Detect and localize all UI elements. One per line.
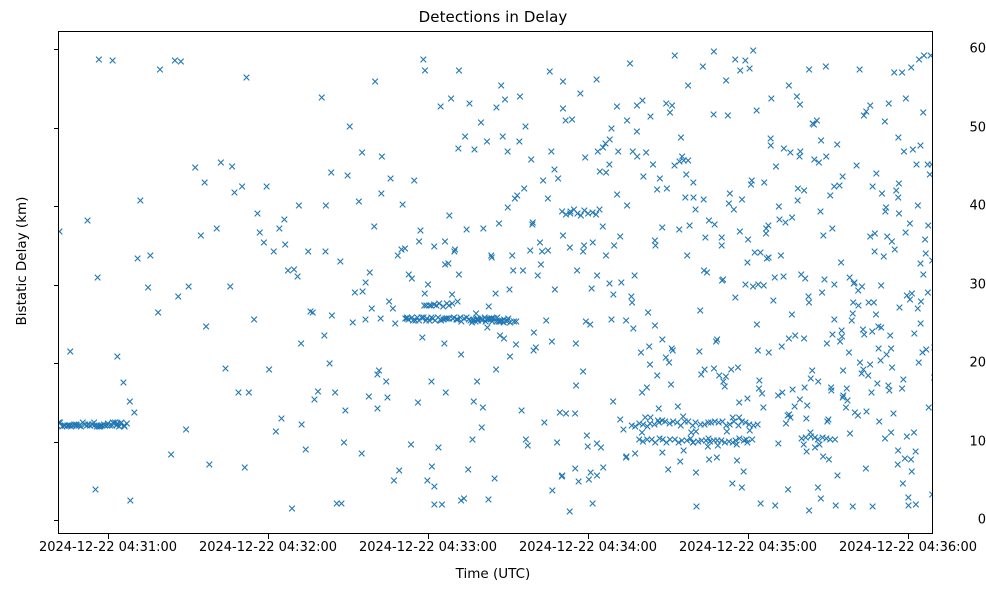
x-tick-mark (428, 534, 429, 539)
scatter-point: ✕ (599, 462, 608, 473)
scatter-point: ✕ (787, 212, 796, 223)
scatter-point: ✕ (926, 50, 933, 61)
scatter-point: ✕ (748, 435, 757, 446)
scatter-point: ✕ (864, 371, 873, 382)
scatter-point: ✕ (550, 285, 559, 296)
scatter-point: ✕ (505, 351, 514, 362)
scatter-point: ✕ (538, 175, 547, 186)
scatter-point: ✕ (321, 200, 330, 211)
scatter-point: ✕ (753, 346, 762, 357)
scatter-point: ✕ (820, 274, 829, 285)
scatter-point: ✕ (545, 67, 554, 78)
scatter-point: ✕ (441, 387, 450, 398)
scatter-point: ✕ (632, 126, 641, 137)
scatter-point: ✕ (568, 115, 577, 126)
scatter-point: ✕ (919, 270, 928, 281)
scatter-point: ✕ (877, 323, 886, 334)
scatter-point: ✕ (801, 274, 810, 285)
scatter-point: ✕ (547, 336, 556, 347)
scatter-point: ✕ (684, 81, 693, 92)
scatter-point: ✕ (398, 200, 407, 211)
scatter-point: ✕ (666, 379, 675, 390)
scatter-point: ✕ (196, 230, 205, 241)
scatter-point: ✕ (348, 318, 357, 329)
scatter-point: ✕ (605, 134, 614, 145)
scatter-point: ✕ (478, 403, 487, 414)
scatter-point: ✕ (881, 207, 890, 218)
scatter-point: ✕ (732, 455, 741, 466)
scatter-point: ✕ (743, 394, 752, 405)
scatter-point: ✕ (93, 273, 102, 284)
scatter-point: ✕ (778, 388, 787, 399)
scatter-point: ✕ (465, 99, 474, 110)
scatter-point: ✕ (771, 162, 780, 173)
scatter-point: ✕ (317, 93, 326, 104)
scatter-point: ✕ (816, 493, 825, 504)
scatter-point: ✕ (791, 331, 800, 342)
scatter-point: ✕ (277, 413, 286, 424)
scatter-point: ✕ (607, 124, 616, 135)
scatter-point: ✕ (250, 315, 259, 326)
scatter-point: ✕ (760, 177, 769, 188)
scatter-point: ✕ (805, 65, 814, 76)
scatter-point: ✕ (540, 418, 549, 429)
scatter-point: ✕ (240, 462, 249, 473)
scatter-point: ✕ (383, 393, 392, 404)
x-tick-label: 2024-12-22 04:36:00 (839, 540, 977, 555)
scatter-point: ✕ (497, 80, 506, 91)
matplotlib-figure: Detections in Delay ✕✕✕✕✕✕✕✕✕✕✕✕✕✕✕✕✕✕✕✕… (0, 0, 986, 590)
scatter-point: ✕ (865, 359, 874, 370)
scatter-point: ✕ (744, 234, 753, 245)
scatter-point: ✕ (617, 277, 626, 288)
scatter-point: ✕ (413, 397, 422, 408)
scatter-point: ✕ (271, 426, 280, 437)
scatter-point: ✕ (581, 153, 590, 164)
scatter-point: ✕ (623, 200, 632, 211)
scatter-point: ✕ (913, 201, 922, 212)
scatter-point: ✕ (774, 439, 783, 450)
x-tick-mark (908, 534, 909, 539)
scatter-point: ✕ (609, 290, 618, 301)
scatter-point: ✕ (712, 334, 721, 345)
scatter-point: ✕ (683, 251, 692, 262)
scatter-point: ✕ (410, 175, 419, 186)
scatter-point: ✕ (454, 143, 463, 154)
scatter-point: ✕ (473, 377, 482, 388)
y-tick-label: 30 (942, 277, 986, 292)
scatter-point: ✕ (586, 320, 595, 331)
scatter-point: ✕ (717, 233, 726, 244)
scatter-point: ✕ (911, 500, 920, 511)
scatter-point: ✕ (558, 77, 567, 88)
y-tick-mark (54, 520, 59, 521)
scatter-point: ✕ (327, 167, 336, 178)
scatter-point: ✕ (894, 179, 903, 190)
scatter-point: ✕ (143, 282, 152, 293)
x-tick-label: 2024-12-22 04:34:00 (519, 540, 657, 555)
scatter-point: ✕ (294, 201, 303, 212)
scatter-point: ✕ (205, 460, 214, 471)
scatter-point: ✕ (415, 236, 424, 247)
scatter-point: ✕ (58, 226, 64, 237)
scatter-point: ✕ (370, 76, 379, 87)
scatter-point: ✕ (907, 288, 916, 299)
scatter-point: ✕ (155, 65, 164, 76)
scatter-point: ✕ (638, 95, 647, 106)
scatter-point: ✕ (547, 146, 556, 157)
scatter-point: ✕ (779, 271, 788, 282)
scatter-point: ✕ (301, 445, 310, 456)
x-tick-label: 2024-12-22 04:31:00 (39, 540, 177, 555)
scatter-point: ✕ (293, 272, 302, 283)
scatter-point: ✕ (373, 403, 382, 414)
scatter-point: ✕ (743, 258, 752, 269)
scatter-point: ✕ (523, 441, 532, 452)
scatter-point: ✕ (407, 274, 416, 285)
scatter-point: ✕ (668, 346, 677, 357)
scatter-point: ✕ (633, 151, 642, 162)
scatter-point: ✕ (508, 251, 517, 262)
scatter-point: ✕ (932, 325, 933, 336)
scatter-point: ✕ (357, 448, 366, 459)
scatter-point: ✕ (889, 409, 898, 420)
scatter-point: ✕ (376, 314, 385, 325)
scatter-point: ✕ (427, 461, 436, 472)
scatter-point: ✕ (641, 148, 650, 159)
scatter-point: ✕ (629, 324, 638, 335)
scatter-point: ✕ (119, 378, 128, 389)
scatter-point: ✕ (527, 155, 536, 166)
scatter-point: ✕ (499, 333, 508, 344)
scatter-point: ✕ (886, 331, 895, 342)
scatter-point: ✕ (573, 266, 582, 277)
scatter-point: ✕ (916, 319, 925, 330)
scatter-point: ✕ (304, 246, 313, 257)
scatter-point: ✕ (921, 235, 930, 246)
scatter-point: ✕ (420, 65, 429, 76)
scatter-point: ✕ (576, 88, 585, 99)
scatter-point: ✕ (531, 342, 540, 353)
scatter-point: ✕ (607, 314, 616, 325)
scatter-point: ✕ (553, 438, 562, 449)
scatter-point: ✕ (122, 419, 131, 430)
scatter-point: ✕ (612, 102, 621, 113)
scatter-point: ✕ (515, 136, 524, 147)
scatter-point: ✕ (108, 56, 117, 67)
scatter-point: ✕ (683, 156, 692, 167)
scatter-point: ✕ (757, 389, 766, 400)
scatter-point: ✕ (592, 74, 601, 85)
scatter-point: ✕ (113, 352, 122, 363)
scatter-point: ✕ (857, 281, 866, 292)
scatter-point: ✕ (725, 188, 734, 199)
scatter-point: ✕ (767, 93, 776, 104)
scatter-point: ✕ (554, 174, 563, 185)
scatter-point: ✕ (756, 498, 765, 509)
scatter-point: ✕ (898, 383, 907, 394)
scatter-point: ✕ (753, 419, 762, 430)
scatter-point: ✕ (644, 307, 653, 318)
scatter-point: ✕ (776, 251, 785, 262)
scatter-points-layer: ✕✕✕✕✕✕✕✕✕✕✕✕✕✕✕✕✕✕✕✕✕✕✕✕✕✕✕✕✕✕✕✕✕✕✕✕✕✕✕✕… (59, 32, 933, 534)
x-axis-label: Time (UTC) (0, 566, 986, 582)
scatter-point: ✕ (894, 208, 903, 219)
scatter-point: ✕ (430, 481, 439, 492)
scatter-point: ✕ (923, 287, 932, 298)
scatter-point: ✕ (844, 348, 853, 359)
scatter-point: ✕ (561, 408, 570, 419)
scatter-point: ✕ (146, 250, 155, 261)
scatter-point: ✕ (909, 427, 918, 438)
scatter-point: ✕ (764, 347, 773, 358)
scatter-point: ✕ (297, 419, 306, 430)
scatter-point: ✕ (238, 181, 247, 192)
scatter-point: ✕ (931, 181, 933, 192)
scatter-point: ✕ (885, 386, 894, 397)
scatter-point: ✕ (787, 310, 796, 321)
scatter-point: ✕ (503, 146, 512, 157)
x-tick-label: 2024-12-22 04:33:00 (359, 540, 497, 555)
scatter-point: ✕ (327, 311, 336, 322)
scatter-point: ✕ (454, 270, 463, 281)
scatter-point: ✕ (367, 304, 376, 315)
scatter-point: ✕ (614, 146, 623, 157)
scatter-point: ✕ (242, 73, 251, 84)
scatter-point: ✕ (907, 466, 916, 477)
scatter-point: ✕ (377, 151, 386, 162)
scatter-point: ✕ (343, 170, 352, 181)
scatter-point: ✕ (814, 377, 823, 388)
scatter-point: ✕ (609, 396, 618, 407)
scatter-point: ✕ (543, 245, 552, 256)
scatter-point: ✕ (905, 218, 914, 229)
scatter-point: ✕ (795, 99, 804, 110)
scatter-point: ✕ (901, 94, 910, 105)
scatter-point: ✕ (533, 271, 542, 282)
scatter-point: ✕ (484, 494, 493, 505)
scatter-point: ✕ (653, 370, 662, 381)
scatter-point: ✕ (622, 115, 631, 126)
scatter-point: ✕ (345, 122, 354, 133)
scatter-point: ✕ (639, 171, 648, 182)
y-tick-label: 0 (942, 513, 986, 528)
scatter-point: ✕ (598, 221, 607, 232)
scatter-point: ✕ (766, 134, 775, 145)
scatter-point: ✕ (871, 309, 880, 320)
scatter-point: ✕ (733, 363, 742, 374)
x-tick-label: 2024-12-22 04:35:00 (679, 540, 817, 555)
scatter-point: ✕ (648, 159, 657, 170)
scatter-point: ✕ (490, 474, 499, 485)
scatter-point: ✕ (764, 253, 773, 264)
scatter-point: ✕ (702, 267, 711, 278)
scatter-point: ✕ (786, 148, 795, 159)
scatter-point: ✕ (653, 185, 662, 196)
scatter-point: ✕ (339, 437, 348, 448)
y-tick-label: 10 (942, 434, 986, 449)
scatter-point: ✕ (583, 442, 592, 453)
scatter-point: ✕ (805, 506, 814, 517)
scatter-point: ✕ (382, 376, 391, 387)
scatter-point: ✕ (817, 287, 826, 298)
scatter-point: ✕ (365, 268, 374, 279)
scatter-point: ✕ (841, 403, 850, 414)
y-tick-label: 40 (942, 199, 986, 214)
scatter-point: ✕ (824, 455, 833, 466)
scatter-point: ✕ (427, 377, 436, 388)
scatter-point: ✕ (265, 364, 274, 375)
scatter-point: ✕ (739, 467, 748, 478)
scatter-point: ✕ (468, 435, 477, 446)
scatter-point: ✕ (855, 65, 864, 76)
scatter-point: ✕ (830, 279, 839, 290)
scatter-point: ✕ (928, 490, 933, 501)
scatter-point: ✕ (325, 359, 334, 370)
scatter-point: ✕ (876, 280, 885, 291)
scatter-point: ✕ (662, 184, 671, 195)
scatter-point: ✕ (838, 171, 847, 182)
scatter-point: ✕ (593, 270, 602, 281)
scatter-point: ✕ (802, 414, 811, 425)
scatter-point: ✕ (658, 335, 667, 346)
scatter-point: ✕ (174, 292, 183, 303)
plot-axes: ✕✕✕✕✕✕✕✕✕✕✕✕✕✕✕✕✕✕✕✕✕✕✕✕✕✕✕✕✕✕✕✕✕✕✕✕✕✕✕✕… (58, 31, 933, 534)
y-tick-mark (54, 49, 59, 50)
scatter-point: ✕ (462, 225, 471, 236)
scatter-point: ✕ (487, 250, 496, 261)
scatter-point: ✕ (710, 220, 719, 231)
scatter-point: ✕ (464, 465, 473, 476)
scatter-point: ✕ (571, 463, 580, 474)
scatter-point: ✕ (517, 405, 526, 416)
scatter-point: ✕ (701, 232, 710, 243)
scatter-point: ✕ (571, 408, 580, 419)
scatter-point: ✕ (498, 131, 507, 142)
scatter-point: ✕ (416, 226, 425, 237)
scatter-point: ✕ (816, 206, 825, 217)
scatter-point: ✕ (176, 57, 185, 68)
scatter-point: ✕ (699, 195, 708, 206)
scatter-point: ✕ (212, 224, 221, 235)
scatter-point: ✕ (862, 406, 871, 417)
scatter-point: ✕ (895, 303, 904, 314)
scatter-point: ✕ (627, 297, 636, 308)
scatter-point: ✕ (612, 189, 621, 200)
scatter-point: ✕ (861, 464, 870, 475)
scatter-point: ✕ (833, 139, 842, 150)
scatter-point: ✕ (388, 303, 397, 314)
y-tick-mark (54, 442, 59, 443)
scatter-point: ✕ (526, 246, 535, 257)
scatter-point: ✕ (364, 392, 373, 403)
scatter-point: ✕ (928, 256, 933, 267)
scatter-point: ✕ (783, 485, 792, 496)
scatter-point: ✕ (685, 220, 694, 231)
y-axis-label: Bistatic Delay (km) (14, 11, 30, 511)
scatter-point: ✕ (668, 100, 677, 111)
scatter-point: ✕ (482, 137, 491, 148)
scatter-point: ✕ (321, 247, 330, 258)
scatter-point: ✕ (759, 280, 768, 291)
scatter-point: ✕ (749, 46, 758, 57)
scatter-point: ✕ (759, 403, 768, 414)
scatter-point: ✕ (692, 502, 701, 513)
scatter-point: ✕ (691, 468, 700, 479)
scatter-point: ✕ (320, 331, 329, 342)
scatter-point: ✕ (330, 387, 339, 398)
scatter-point: ✕ (511, 340, 520, 351)
scatter-point: ✕ (886, 428, 895, 439)
scatter-point: ✕ (445, 211, 454, 222)
scatter-point: ✕ (542, 315, 551, 326)
scatter-point: ✕ (924, 221, 933, 232)
scatter-point: ✕ (930, 343, 933, 354)
scatter-point: ✕ (500, 95, 509, 106)
scatter-point: ✕ (822, 152, 831, 163)
scatter-point: ✕ (221, 364, 230, 375)
scatter-point: ✕ (400, 244, 409, 255)
x-tick-label: 2024-12-22 04:32:00 (199, 540, 337, 555)
scatter-point: ✕ (747, 175, 756, 186)
scatter-point: ✕ (406, 439, 415, 450)
scatter-point: ✕ (440, 236, 449, 247)
scatter-point: ✕ (879, 251, 888, 262)
scatter-point: ✕ (819, 231, 828, 242)
scatter-point: ✕ (812, 116, 821, 127)
scatter-point: ✕ (66, 346, 75, 357)
scatter-point: ✕ (745, 63, 754, 74)
scatter-point: ✕ (804, 291, 813, 302)
scatter-point: ✕ (341, 405, 350, 416)
scatter-point: ✕ (200, 178, 209, 189)
scatter-point: ✕ (698, 62, 707, 73)
scatter-point: ✕ (658, 222, 667, 233)
scatter-point: ✕ (565, 507, 574, 518)
scatter-point: ✕ (631, 448, 640, 459)
scatter-point: ✕ (769, 296, 778, 307)
scatter-point: ✕ (536, 259, 545, 270)
scatter-point: ✕ (676, 457, 685, 468)
scatter-point: ✕ (136, 195, 145, 206)
scatter-point: ✕ (894, 132, 903, 143)
scatter-point: ✕ (528, 220, 537, 231)
scatter-point: ✕ (842, 384, 851, 395)
scatter-point: ✕ (916, 141, 925, 152)
scatter-point: ✕ (898, 479, 907, 490)
scatter-point: ✕ (281, 239, 290, 250)
scatter-point: ✕ (912, 160, 921, 171)
scatter-point: ✕ (423, 280, 432, 291)
scatter-point: ✕ (866, 101, 875, 112)
scatter-point: ✕ (520, 183, 529, 194)
scatter-point: ✕ (287, 504, 296, 515)
scatter-point: ✕ (650, 235, 659, 246)
scatter-point: ✕ (461, 131, 470, 142)
scatter-point: ✕ (826, 382, 835, 393)
scatter-point: ✕ (664, 465, 673, 476)
scatter-point: ✕ (357, 147, 366, 158)
scatter-point: ✕ (579, 366, 588, 377)
scatter-point: ✕ (817, 135, 826, 146)
scatter-point: ✕ (459, 493, 468, 504)
scatter-point: ✕ (571, 339, 580, 350)
y-tick-mark (54, 206, 59, 207)
scatter-point: ✕ (234, 387, 243, 398)
scatter-point: ✕ (476, 117, 485, 128)
scatter-point: ✕ (386, 174, 395, 185)
scatter-point: ✕ (444, 259, 453, 270)
